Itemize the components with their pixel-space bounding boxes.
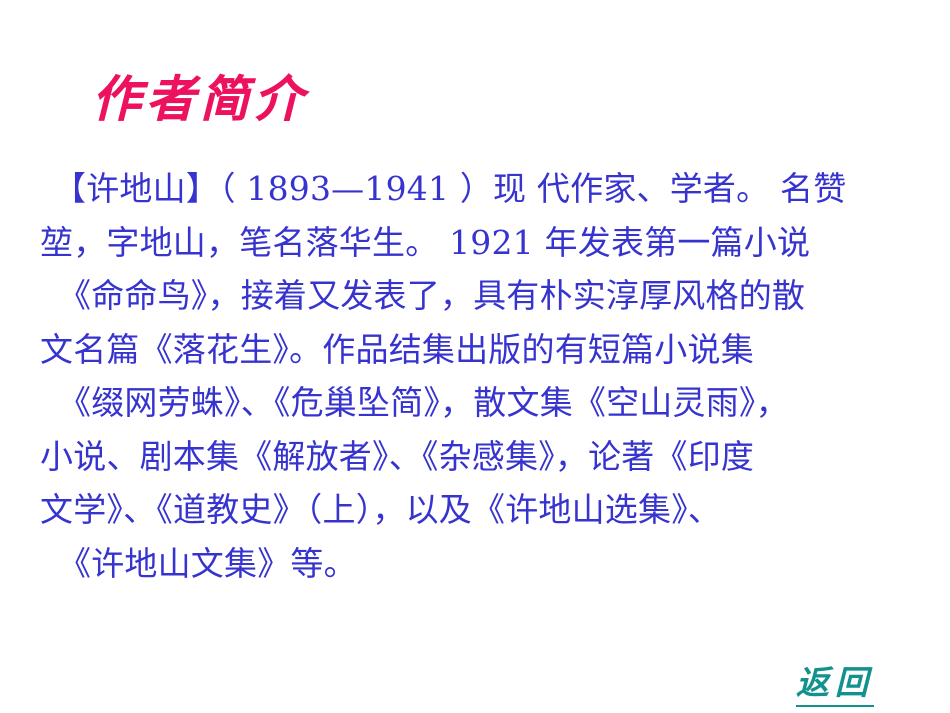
body-line-2: 堃，字地山，笔名落华生。 1921 年发表第一篇小说 — [40, 216, 912, 270]
body-line-6: 小说、剧本集《解放者》、《杂感集》，论著《印度 — [40, 430, 912, 484]
slide-canvas: 作者简介 【许地山】（ 1893—1941 ）现 代作家、学者。 名赞 堃，字地… — [0, 0, 950, 713]
body-line-7: 文学》、《道教史》（上），以及《许地山选集》、 — [40, 483, 912, 537]
body-line-8: 《许地山文集》等。 — [40, 537, 912, 591]
body-line-3: 《命命鸟》，接着又发表了，具有朴实淳厚风格的散 — [40, 269, 912, 323]
return-link[interactable]: 返回 — [796, 664, 874, 707]
body-line-5: 《缀网劳蛛》、《危巢坠简》，散文集《空山灵雨》， — [40, 376, 912, 430]
body-line-1: 【许地山】（ 1893—1941 ）现 代作家、学者。 名赞 — [40, 162, 912, 216]
page-title: 作者简介 — [92, 72, 308, 127]
body-text-block: 【许地山】（ 1893—1941 ）现 代作家、学者。 名赞 堃，字地山，笔名落… — [40, 162, 912, 590]
body-line-4: 文名篇《落花生》。作品结集出版的有短篇小说集 — [40, 323, 912, 377]
